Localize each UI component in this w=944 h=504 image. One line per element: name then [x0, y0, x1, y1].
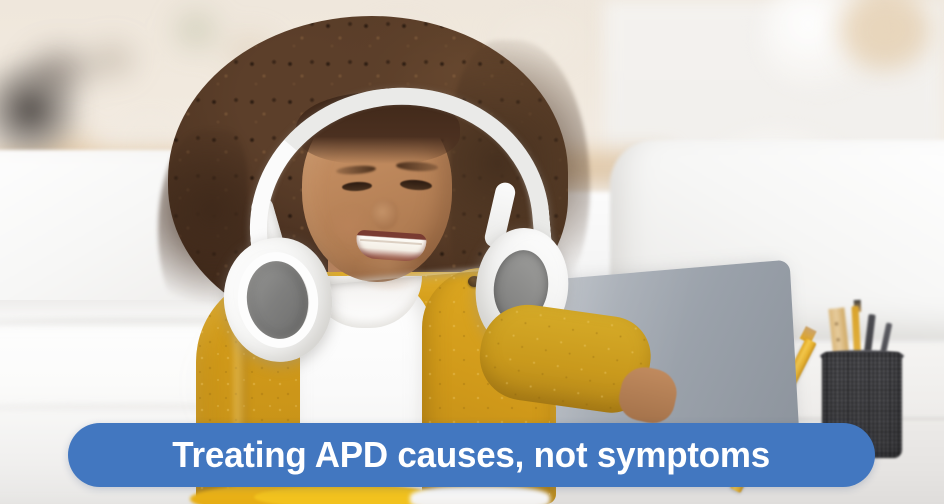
banner-title-text: Treating APD causes, not symptoms — [173, 437, 771, 473]
white-object-foreground — [410, 486, 550, 504]
title-banner: Treating APD causes, not symptoms — [68, 423, 875, 487]
hero-image-canvas: Treating APD causes, not symptoms — [0, 0, 944, 504]
